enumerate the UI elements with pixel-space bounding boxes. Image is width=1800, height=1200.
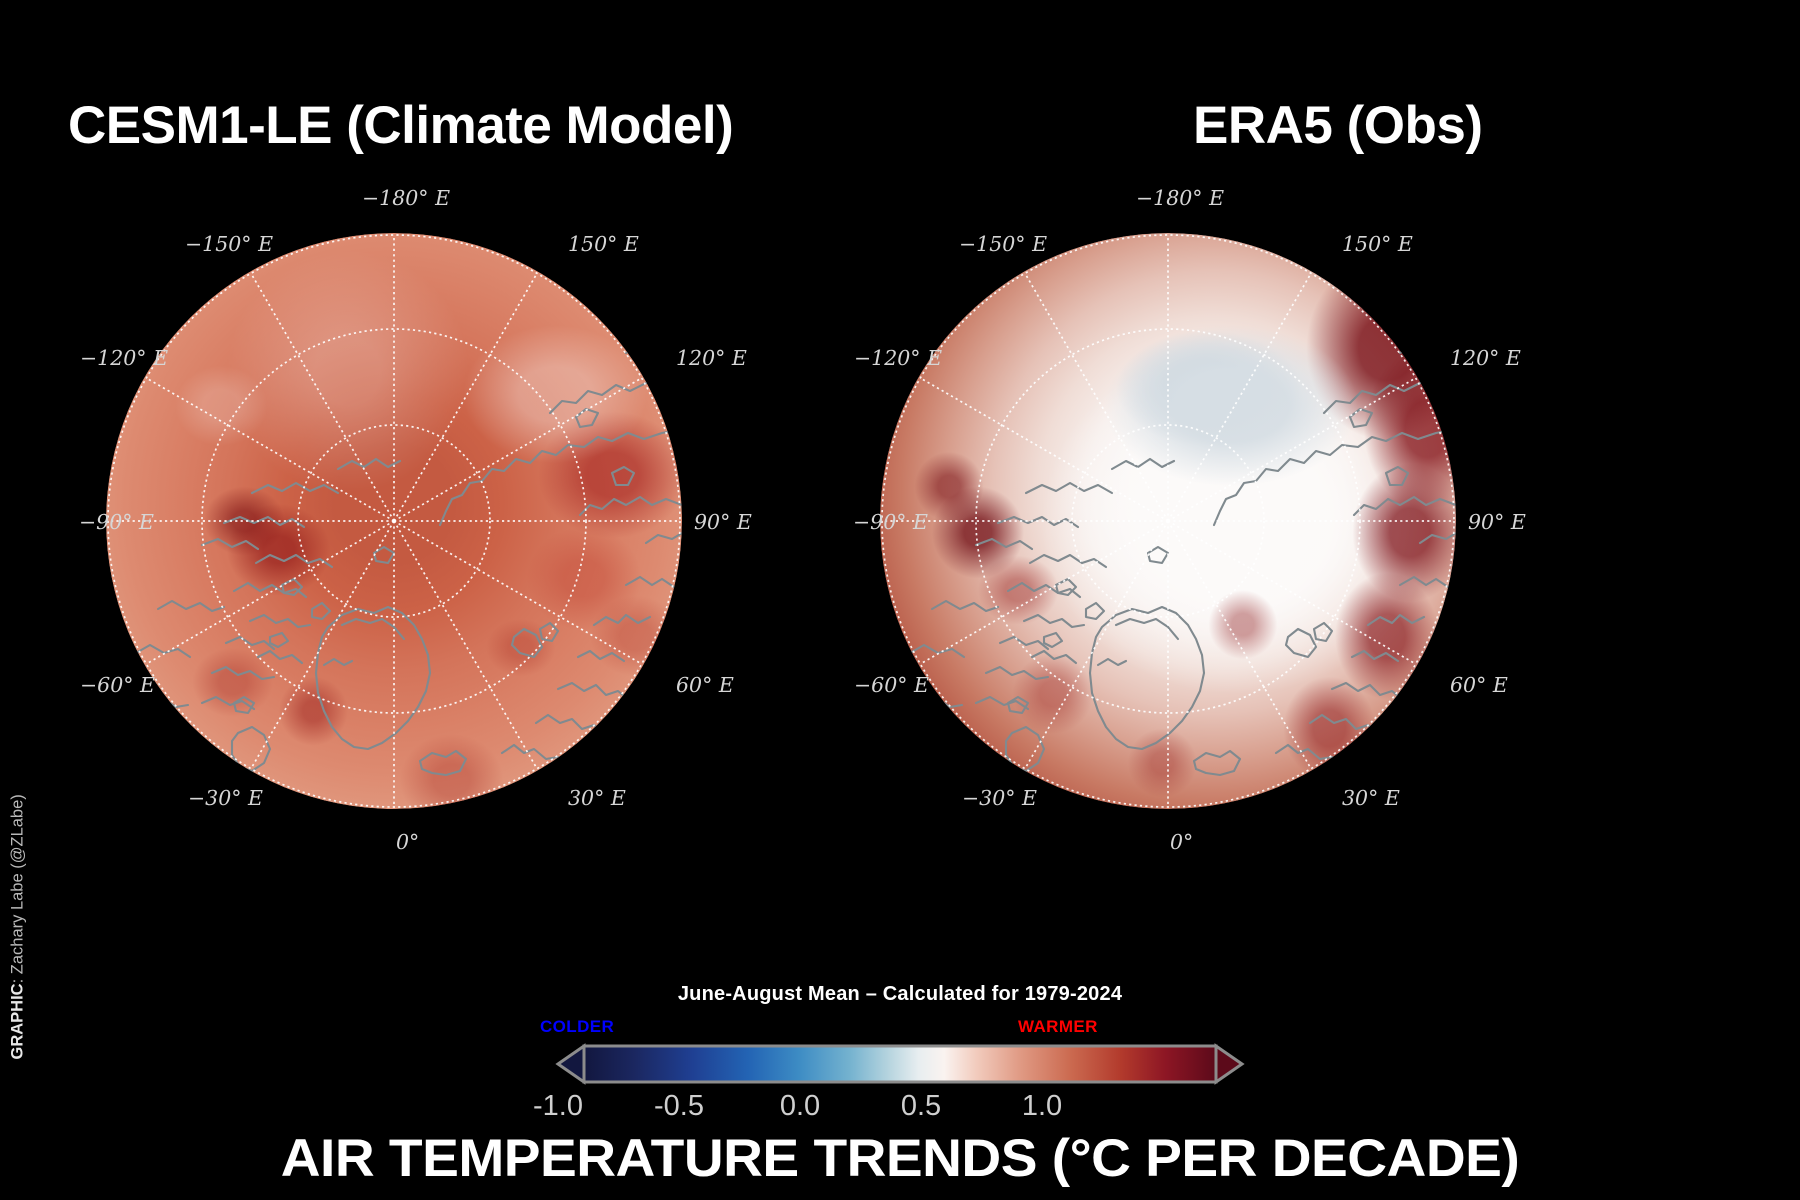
lon-label-minus120-left: −120° E bbox=[80, 346, 168, 370]
lon-label-120-right: 120° E bbox=[1450, 346, 1521, 370]
lon-label-150-left: 150° E bbox=[568, 232, 639, 256]
colorbar-tick-0.0: 0.0 bbox=[780, 1090, 820, 1123]
panel-title-cesm1: CESM1-LE (Climate Model) bbox=[68, 95, 733, 156]
map-cesm1-le bbox=[106, 233, 682, 809]
figure-main-title: AIR TEMPERATURE TRENDS (°C PER DECADE) bbox=[0, 1128, 1800, 1189]
colorbar-tick--1.0: -1.0 bbox=[533, 1090, 583, 1123]
lon-label-minus60-right: −60° E bbox=[854, 673, 929, 697]
colorbar-warmer-label: WARMER bbox=[1018, 1017, 1098, 1037]
subcaption: June-August Mean – Calculated for 1979-2… bbox=[0, 983, 1800, 1006]
lon-label-60-right: 60° E bbox=[1450, 673, 1508, 697]
colorbar-tick--0.5: -0.5 bbox=[654, 1090, 704, 1123]
credit-text: : Zachary Labe (@ZLabe) bbox=[9, 794, 27, 983]
colorbar-tick-0.5: 0.5 bbox=[901, 1090, 941, 1123]
lon-label-minus30-right: −30° E bbox=[962, 786, 1037, 810]
graticule-cesm1 bbox=[106, 233, 682, 809]
colorbar[interactable] bbox=[558, 1041, 1242, 1087]
lon-label-minus30-left: −30° E bbox=[188, 786, 263, 810]
lon-label-90-right: 90° E bbox=[1468, 510, 1526, 534]
lon-label-0-left: 0° bbox=[396, 830, 419, 854]
figure-canvas: CESM1-LE (Climate Model) ERA5 (Obs) bbox=[0, 0, 1800, 1200]
lon-label-30-right: 30° E bbox=[1342, 786, 1400, 810]
lon-label-minus90-right: −90° E bbox=[853, 510, 928, 534]
lon-label-120-left: 120° E bbox=[676, 346, 747, 370]
lon-label-90-left: 90° E bbox=[694, 510, 752, 534]
panel-title-era5: ERA5 (Obs) bbox=[1193, 95, 1482, 156]
graticule-era5 bbox=[880, 233, 1456, 809]
lon-label-minus120-right: −120° E bbox=[854, 346, 942, 370]
lon-label-minus150-left: −150° E bbox=[185, 232, 273, 256]
lon-label-60-left: 60° E bbox=[676, 673, 734, 697]
lon-label-150-right: 150° E bbox=[1342, 232, 1413, 256]
lon-label-minus180-right: −180° E bbox=[1136, 186, 1224, 210]
graphic-credit: GRAPHIC: Zachary Labe (@ZLabe) bbox=[9, 720, 28, 1060]
credit-prefix: GRAPHIC bbox=[9, 983, 27, 1059]
lon-label-minus60-left: −60° E bbox=[80, 673, 155, 697]
map-era5 bbox=[880, 233, 1456, 809]
lon-label-minus150-right: −150° E bbox=[959, 232, 1047, 256]
lon-label-0-right: 0° bbox=[1170, 830, 1193, 854]
lon-label-minus180-left: −180° E bbox=[362, 186, 450, 210]
colorbar-colder-label: COLDER bbox=[540, 1017, 614, 1037]
colorbar-tick-1.0: 1.0 bbox=[1022, 1090, 1062, 1123]
lon-label-30-left: 30° E bbox=[568, 786, 626, 810]
lon-label-minus90-left: −90° E bbox=[79, 510, 154, 534]
